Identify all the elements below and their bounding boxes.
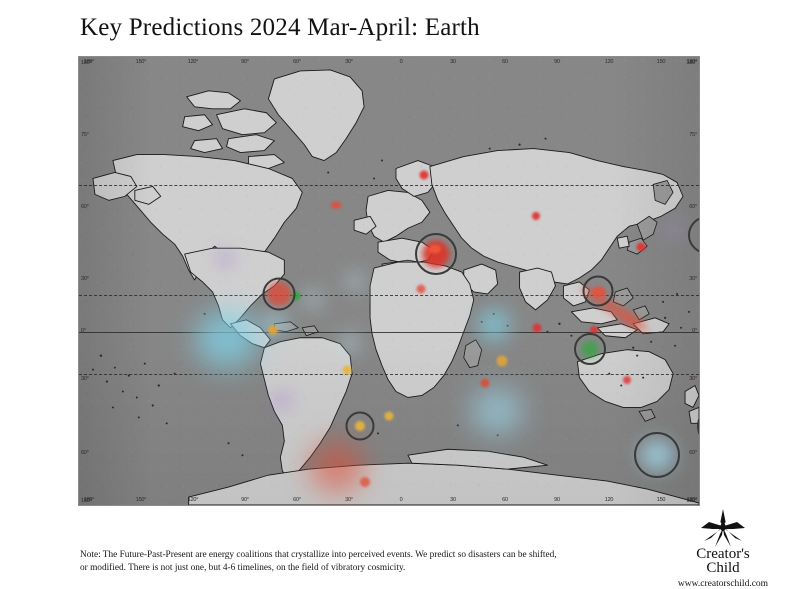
gridline-tropic-north: [79, 185, 699, 186]
lon-label-top-4: 60°: [293, 59, 301, 65]
lat-label-right-7: 180°: [686, 498, 697, 504]
lon-label-top-3: 90°: [241, 59, 249, 65]
gridline-equator: [79, 332, 699, 333]
lon-label-top-5: 30°: [345, 59, 353, 65]
lat-label-left-2: 60°: [81, 204, 89, 210]
logo-url[interactable]: www.creatorschild.com: [654, 579, 792, 589]
lat-label-right-4: 0°: [692, 328, 697, 334]
lon-label-top-7: 30: [450, 59, 456, 65]
lon-label-top-2: 120°: [188, 59, 199, 65]
lon-label-bottom-4: 60°: [293, 497, 301, 503]
ring-central-asia-caspian[interactable]: [583, 276, 614, 307]
lon-label-top-8: 60: [502, 59, 508, 65]
logo-name-line-1: Creator's: [654, 547, 792, 561]
lat-label-left-4: 0°: [81, 328, 86, 334]
lat-label-right-6: 60°: [689, 450, 697, 456]
lon-label-bottom-6: 0: [400, 497, 403, 503]
lon-label-top-9: 90: [554, 59, 560, 65]
footer-note: Note: The Future-Past-Present are energy…: [80, 549, 680, 576]
lon-label-bottom-10: 120: [605, 497, 614, 503]
ring-indonesia-malaysia[interactable]: [574, 333, 606, 365]
lon-label-bottom-11: 150: [657, 497, 666, 503]
lon-label-bottom-1: 150°: [136, 497, 147, 503]
footer-note-line-1: Note: The Future-Past-Present are energy…: [80, 549, 680, 562]
lon-label-top-10: 120: [605, 59, 614, 65]
lat-label-right-0: 180°: [686, 60, 697, 66]
lat-label-right-3: 30°: [689, 276, 697, 282]
lat-label-left-1: 75°: [81, 132, 89, 138]
ring-western-us[interactable]: [263, 278, 296, 311]
lat-label-left-3: 30°: [81, 276, 89, 282]
lon-label-bottom-2: 120°: [188, 497, 199, 503]
lat-label-left-0: 180°: [81, 60, 92, 66]
world-map[interactable]: 180° 150° 120° 90° 60° 30° 0 30 60 90 12…: [78, 56, 700, 506]
lat-label-left-5: 30°: [81, 376, 89, 382]
star-burst-icon: [700, 508, 746, 548]
lat-label-left-6: 60°: [81, 450, 89, 456]
page-root: Key Predictions 2024 Mar-April: Earth: [0, 0, 800, 582]
lat-label-left-7: 180°: [81, 498, 92, 504]
lon-label-top-1: 150°: [136, 59, 147, 65]
lat-label-right-1: 75°: [689, 132, 697, 138]
lon-label-bottom-9: 90: [554, 497, 560, 503]
logo-name-line-2: Child: [654, 561, 792, 576]
lon-label-bottom-7: 30: [450, 497, 456, 503]
lon-label-bottom-5: 30°: [345, 497, 353, 503]
ring-andes-bolivia-chile[interactable]: [346, 412, 375, 441]
lon-label-top-6: 0: [400, 59, 403, 65]
ring-indian-ocean-southwest-australia[interactable]: [634, 432, 680, 478]
lon-label-bottom-3: 90°: [241, 497, 249, 503]
ring-iceland[interactable]: [415, 233, 457, 275]
lon-label-top-11: 150: [657, 59, 666, 65]
footer-note-line-2: or modified. There is not just one, but …: [80, 562, 680, 575]
marker-dot-philippines-red: [700, 377, 701, 386]
lat-label-right-5: 30°: [689, 376, 697, 382]
gridline-tropic-capricorn: [79, 374, 699, 375]
page-title: Key Predictions 2024 Mar-April: Earth: [80, 14, 480, 42]
brand-logo[interactable]: Creator's Child www.creatorschild.com: [654, 508, 792, 589]
lat-label-right-2: 60°: [689, 204, 697, 210]
lon-label-bottom-8: 60: [502, 497, 508, 503]
